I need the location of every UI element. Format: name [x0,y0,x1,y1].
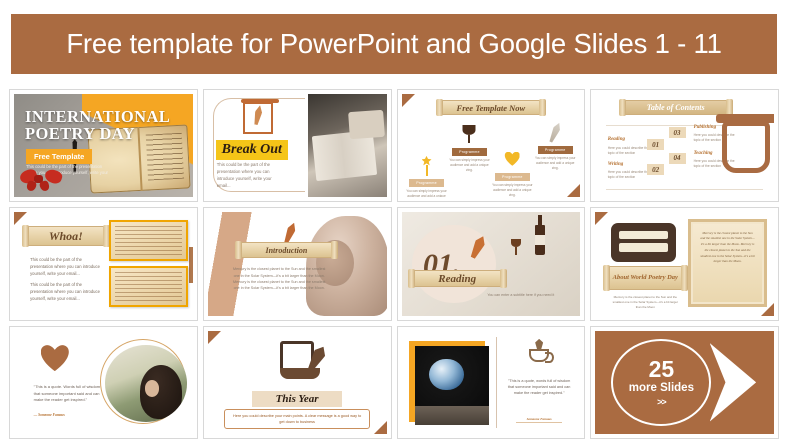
slide-whoa: Whoa! This could be the part of the pres… [14,212,193,315]
slide-thumbnail-5[interactable]: Whoa! This could be the part of the pres… [9,207,198,320]
programme-node-1: Programme You can simply impress your au… [405,154,448,197]
girl-portrait-photo [105,345,187,421]
wine-glass-icon [448,123,491,145]
slide-7-caption: You can enter a subtitle here if you nee… [487,293,569,299]
corner-decoration [14,212,27,225]
toc-text-2: Here you could describe the topic of the… [608,170,652,180]
slide-free-template-now: Free Template Now Programme You can simp… [402,94,581,197]
slide-6-body: Mercury is the closest planet to the Sun… [233,266,326,291]
slide-4-title: Table of Contents [624,100,728,115]
slide-thumbnail-8[interactable]: About World Poetry Day Mercury is the cl… [590,207,779,320]
edge-decoration [189,247,193,282]
programme-node-4: Programme You can simply impress your au… [534,121,577,171]
moon-surface [415,406,489,425]
toc-title-1: Reading [608,137,625,142]
slide-about-world-poetry-day: About World Poetry Day Mercury is the cl… [595,212,774,315]
left-panel [402,331,495,434]
slide-2-body: This could be the part of the presentati… [217,162,279,190]
slide-3-title: Free Template Now [441,100,541,115]
toc-number-3: 03 [669,127,686,138]
more-slides-label: more Slides [629,381,694,396]
slide-11-attribution: Someone Famous [516,417,562,423]
left-panel: Break Out This could be the part of the … [208,94,308,197]
more-slides-cta[interactable]: 25 more Slides >> [595,331,774,434]
slide-11-quote: "This is a quote, words full of wisdom t… [505,378,572,396]
wine-bottle-icon [535,225,545,255]
toc-text-1: Here you could describe the topic of the… [608,146,652,156]
parchment-panel: Mercury is the closest planet to the Sun… [688,219,767,308]
divider [606,189,763,190]
page-root: Free template for PowerPoint and Google … [0,0,788,447]
slide-9-quote: "This is a quote. Words full of wisdom t… [34,384,106,403]
red-bow-icon [20,169,62,191]
programme-label-4: Programme [538,146,573,154]
toc-number-1: 01 [647,139,664,150]
corner-decoration [208,331,221,344]
corner-decoration [402,94,415,107]
slide-5-title: Whoa! [27,226,106,246]
corner-decoration [595,212,608,225]
slide-10-body: Here you could describe your main points… [224,409,371,429]
heart-icon [41,345,69,371]
programme-node-3: Programme You can simply impress your au… [491,148,534,198]
toc-title-4: Teaching [694,151,713,156]
toc-number-4: 04 [669,153,686,164]
programme-node-2: Programme You can simply impress your au… [448,123,491,173]
slide-thumbnail-4[interactable]: Table of Contents Reading Here you could… [590,89,779,202]
slide-10-title: This Year [252,391,341,407]
heart-icon [491,148,534,170]
slide-thumbnail-3[interactable]: Free Template Now Programme You can simp… [397,89,586,202]
slide-5-body-1: This could be the part of the presentati… [30,256,102,277]
slide-cover: INTERNATIONAL POETRY DAY Free Template T… [14,94,193,197]
hands-book-photo [308,94,387,197]
more-slides-count: 25 [649,358,675,381]
chevron-right-icon[interactable] [710,343,756,422]
programme-text-3: You can simply impress your audience and… [491,183,534,197]
toc-title-3: Publishing [694,125,717,130]
slide-9-attribution: — Someone Famous [34,413,65,417]
earth-shape [429,359,463,390]
slide-thumbnail-7[interactable]: 01. Reading You can enter a subtitle her… [397,207,586,320]
slide-introduction: Introduction Mercury is the closest plan… [208,212,387,315]
more-slides-circle[interactable]: 25 more Slides >> [611,339,711,426]
slide-table-of-contents: Table of Contents Reading Here you could… [595,94,774,197]
slide-1-title: INTERNATIONAL POETRY DAY [25,108,154,143]
slide-5-body-2: This could be the part of the presentati… [30,281,102,302]
header-banner: Free template for PowerPoint and Google … [11,14,777,74]
right-panel: "This is a quote, words full of wisdom t… [498,331,580,434]
feather-icon [534,121,577,143]
corner-decoration [567,184,580,197]
corner-decoration [374,421,387,434]
slide-thumbnail-10[interactable]: This Year Here you could describe your m… [203,326,392,439]
coffee-cup-icon [529,349,549,362]
flower-icon [405,154,448,176]
slide-thumbnail-11[interactable]: "This is a quote, words full of wisdom t… [397,326,586,439]
slide-section-01: 01. Reading You can enter a subtitle her… [402,212,581,315]
free-template-badge[interactable]: Free Template [26,149,92,164]
parchment-manuscript-image [109,220,188,261]
slide-6-title: Introduction [240,242,333,258]
toc-title-2: Writing [608,162,623,167]
slide-thumbnail-6[interactable]: Introduction Mercury is the closest plan… [203,207,392,320]
programme-label-1: Programme [409,179,444,187]
slide-8-title: About World Poetry Day [608,266,683,290]
slide-thumbnail-9[interactable]: "This is a quote. Words full of wisdom t… [9,326,198,439]
slide-8-caption: Mercury is the closest planet to the Sun… [610,295,682,309]
slide-this-year: This Year Here you could describe your m… [208,331,387,434]
inkwell-quill-icon [280,341,314,379]
slide-8-parchment-text: Mercury is the closest planet to the Sun… [700,231,755,296]
slide-thumbnail-12[interactable]: 25 more Slides >> [590,326,779,439]
slide-break-out: Break Out This could be the part of the … [208,94,387,197]
slide-quote-heart: "This is a quote. Words full of wisdom t… [14,331,193,434]
programme-text-1: You can simply impress your audience and… [405,189,448,197]
stacked-books-icon [611,223,675,262]
slide-grid: INTERNATIONAL POETRY DAY Free Template T… [9,89,779,439]
slide-thumbnail-2[interactable]: Break Out This could be the part of the … [203,89,392,202]
slide-quote-coffee: "This is a quote, words full of wisdom t… [402,331,581,434]
more-slides-arrow: >> [657,397,666,407]
slide-thumbnail-1[interactable]: INTERNATIONAL POETRY DAY Free Template T… [9,89,198,202]
slide-2-title: Break Out [216,140,288,160]
wine-glass-icon [511,239,521,247]
programme-text-2: You can simply impress your audience and… [448,158,491,172]
earth-from-moon-photo [415,346,489,425]
slide-7-title: Reading [413,270,502,287]
page-title: Free template for PowerPoint and Google … [66,28,721,60]
programme-label-2: Programme [452,148,487,156]
toc-number-2: 02 [647,164,664,175]
programme-text-4: You can simply impress your audience and… [534,156,577,170]
programme-label-3: Programme [495,173,530,181]
inkpot-icon [722,121,770,173]
parchment-manuscript-image [109,266,188,307]
diagonal-decoration [208,212,269,315]
